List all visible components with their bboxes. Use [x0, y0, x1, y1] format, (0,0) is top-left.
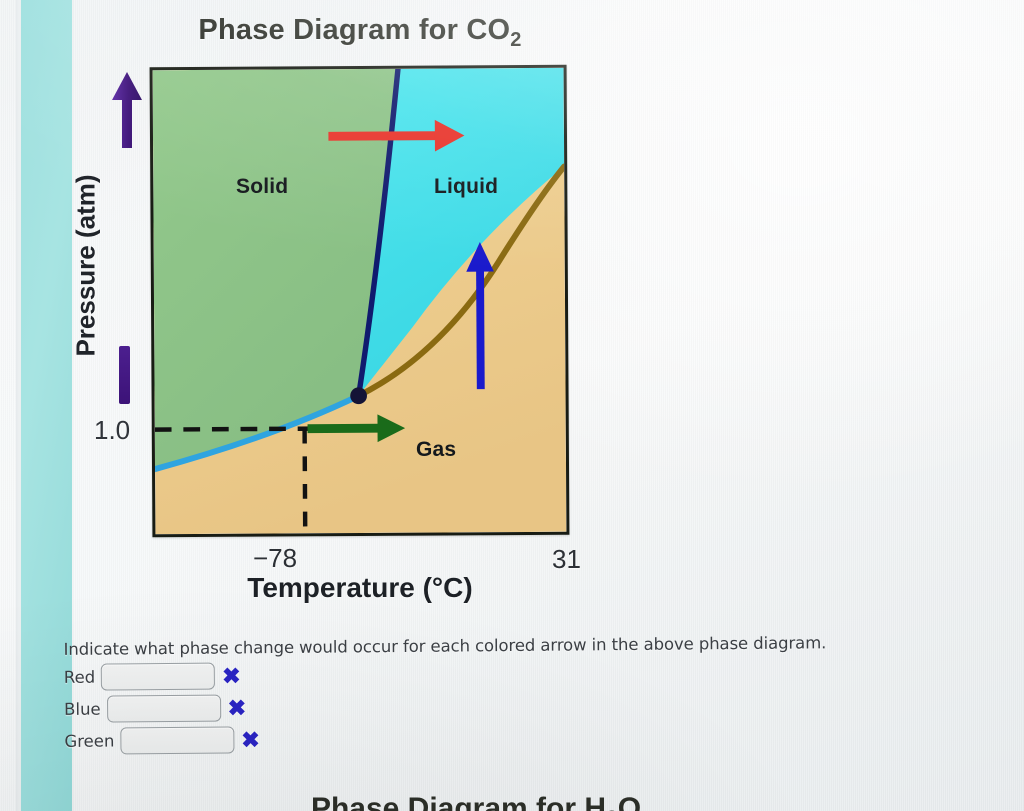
answer-input-green[interactable]: [120, 726, 234, 754]
answer-row-red: Red ✖: [64, 656, 964, 691]
plot-svg: [153, 68, 567, 535]
pressure-axis-tick-label: 1.0: [94, 415, 130, 446]
x-axis-tick-label-right: 31: [552, 544, 581, 575]
question-block: Indicate what phase change would occur f…: [64, 632, 965, 755]
chart-title: Phase Diagram for CO2: [150, 14, 570, 52]
pressure-axis-tick-mark: [119, 346, 130, 404]
answer-label-green: Green: [64, 731, 114, 750]
answer-input-red[interactable]: [101, 663, 215, 691]
chart-title-text: Phase Diagram for CO: [198, 14, 510, 46]
region-label-solid: Solid: [236, 175, 288, 199]
triple-point: [350, 387, 367, 404]
chart-title-subscript: 2: [510, 29, 521, 51]
incorrect-icon-blue: ✖: [228, 697, 247, 719]
next-section-title-tail: O: [618, 792, 641, 811]
answer-row-blue: Blue ✖: [64, 688, 964, 723]
region-label-gas: Gas: [416, 438, 456, 462]
answer-input-blue[interactable]: [107, 695, 221, 723]
region-label-liquid: Liquid: [434, 175, 498, 199]
next-section-title-subscript: 2: [606, 807, 618, 811]
next-section-title-text: Phase Diagram for H: [311, 792, 606, 811]
x-axis-label: Temperature (°C): [150, 572, 570, 604]
phase-diagram-figure: Phase Diagram for CO2 1.0 Pressure (atm): [0, 0, 640, 630]
next-section-title: Phase Diagram for H2O: [216, 792, 736, 811]
incorrect-icon-green: ✖: [241, 729, 260, 751]
answer-label-red: Red: [64, 668, 96, 687]
incorrect-icon-red: ✖: [222, 665, 241, 687]
plot-area: [150, 65, 570, 538]
answer-label-blue: Blue: [64, 700, 101, 719]
x-axis-tick-label-left: −78: [253, 543, 297, 574]
screenshot-root: Phase Diagram for CO2 1.0 Pressure (atm): [0, 0, 1024, 811]
y-axis-label: Pressure (atm): [71, 156, 102, 376]
pressure-up-arrow-icon: [110, 70, 144, 148]
